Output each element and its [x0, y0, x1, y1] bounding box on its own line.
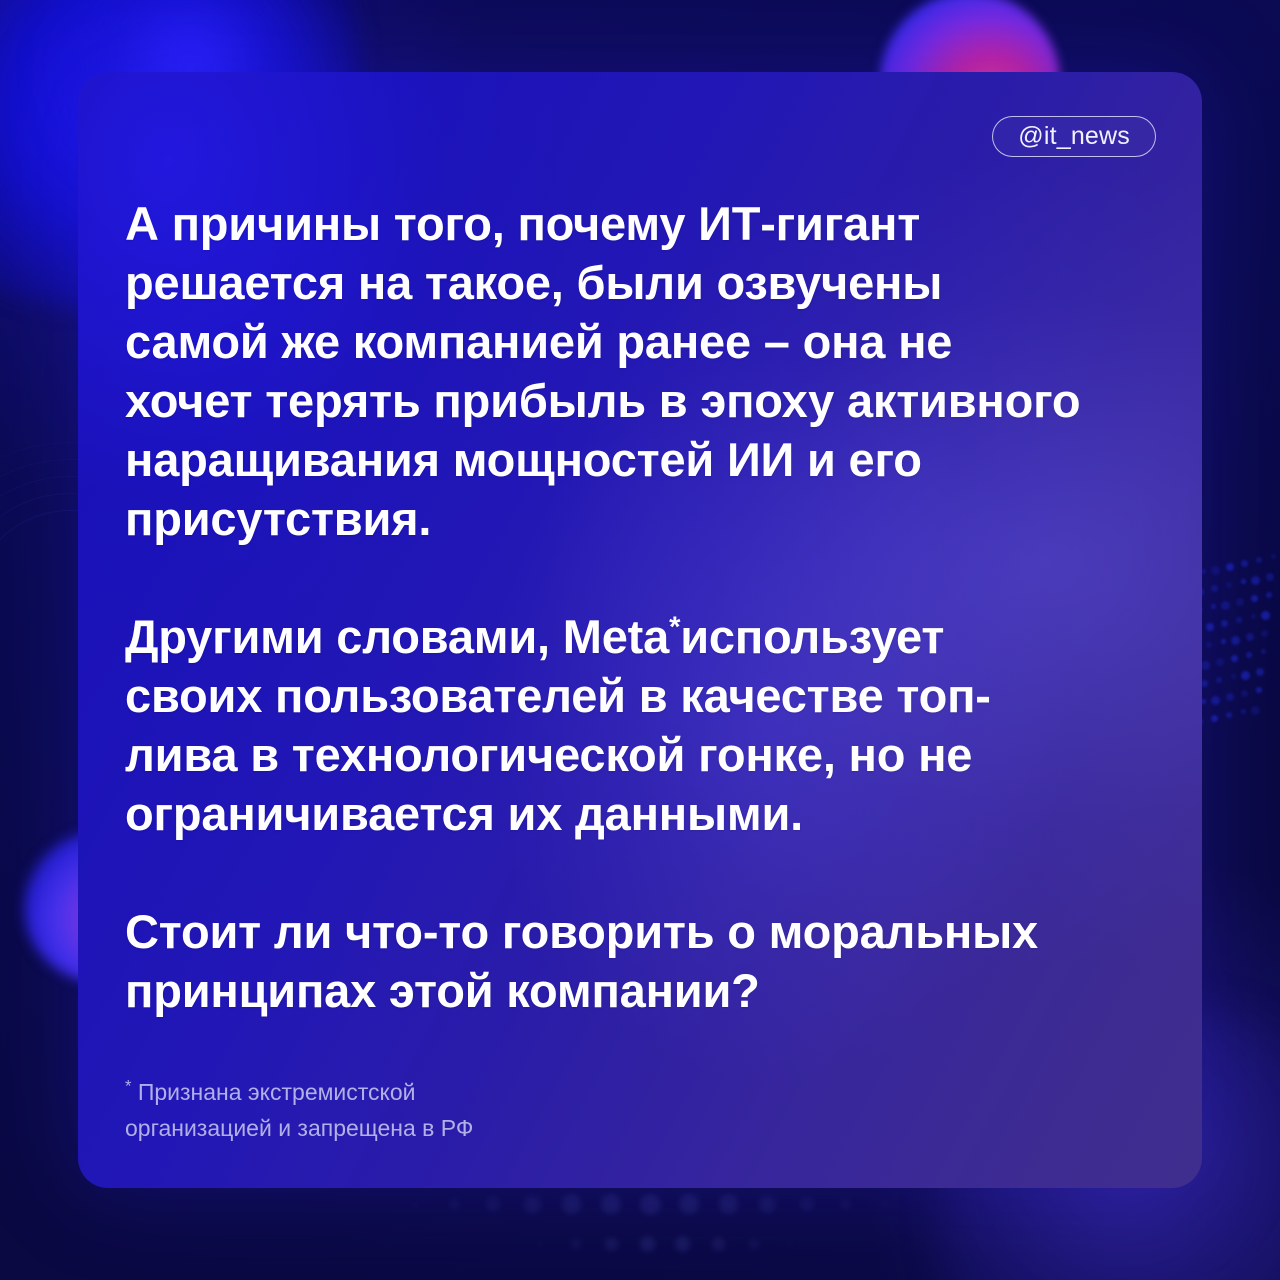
content-card: @it_news А причины того, почему ИТ-гиган…	[78, 72, 1202, 1188]
dot-row-decoration-lower	[540, 1238, 790, 1252]
paragraph-2: Другими словами, Meta*использует своих п…	[125, 607, 1165, 843]
footnote-text: Признана экстремистской организацией и з…	[125, 1079, 473, 1141]
asterisk-marker: *	[669, 611, 680, 643]
poster-canvas: @it_news А причины того, почему ИТ-гиган…	[0, 0, 1280, 1280]
dot-row-decoration-upper	[415, 1198, 885, 1216]
channel-handle-label: @it_news	[1018, 122, 1130, 151]
article-body: А причины того, почему ИТ-гигант решаетс…	[125, 194, 1165, 1020]
channel-handle-badge[interactable]: @it_news	[992, 116, 1156, 157]
paragraph-2-part-a: Другими словами, Meta	[125, 610, 669, 663]
footnote: * Признана экстремистской организацией и…	[125, 1074, 745, 1146]
paragraph-1: А причины того, почему ИТ-гигант решаетс…	[125, 194, 1165, 548]
paragraph-3: Стоит ли что-то говорить о моральных при…	[125, 902, 1165, 1020]
